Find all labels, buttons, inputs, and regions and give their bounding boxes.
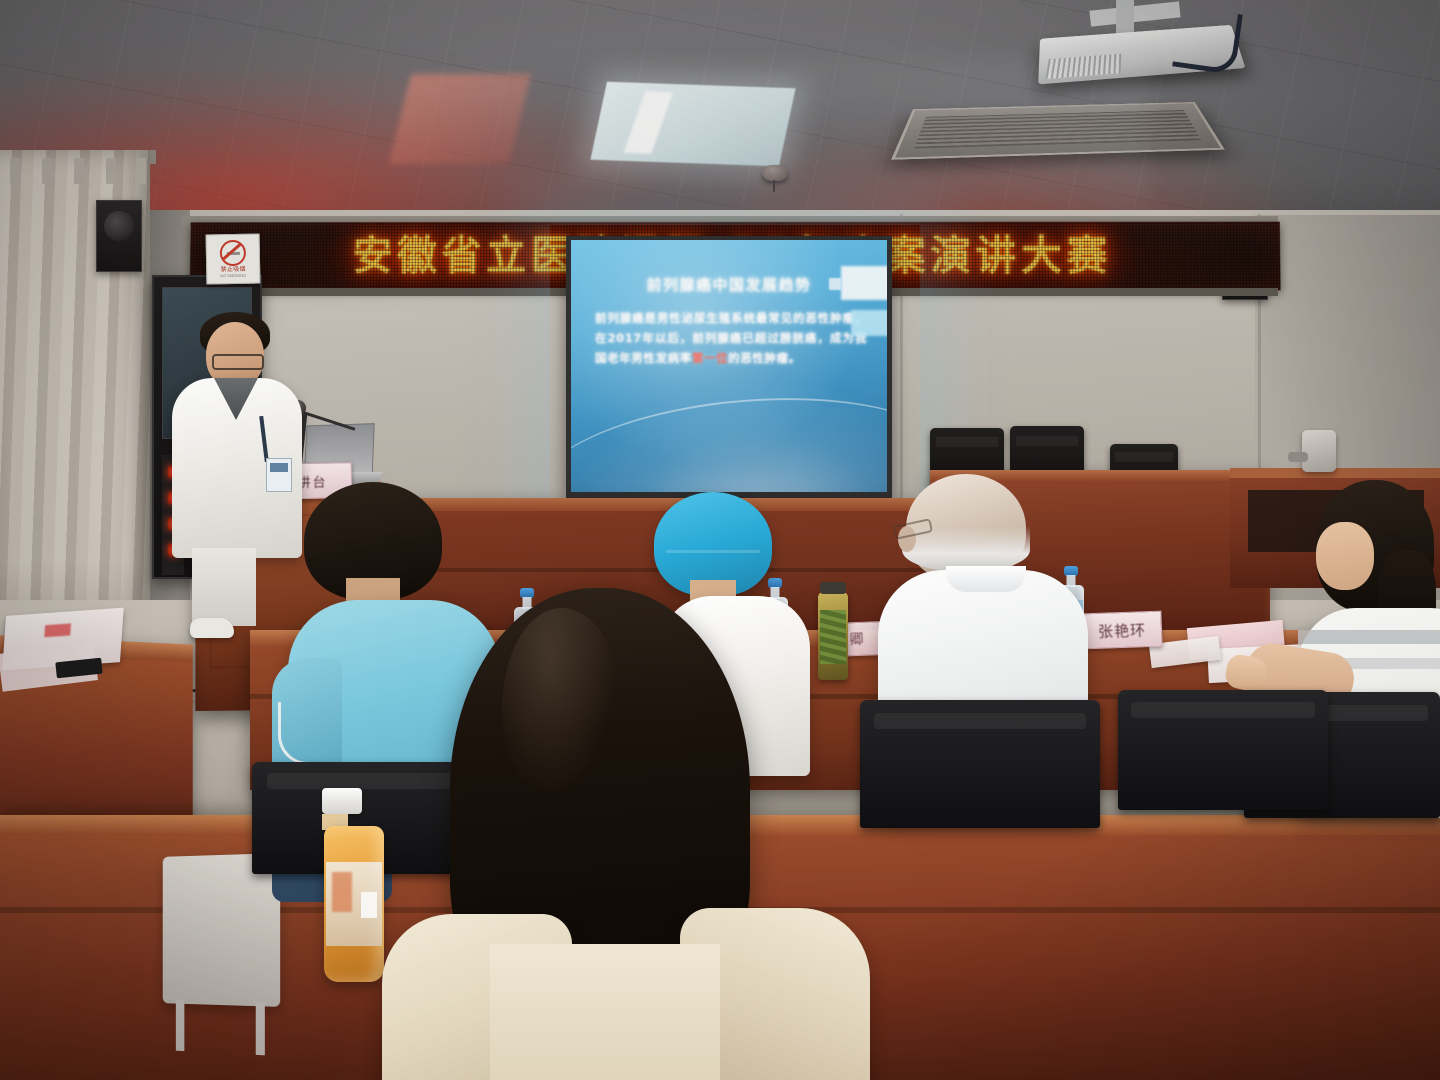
no-smoking-sign: 禁止吸烟 NO SMOKING — [206, 234, 261, 285]
curtain-hook — [136, 158, 146, 184]
judge-top-stripe — [1298, 630, 1440, 644]
presenter-shoe — [190, 618, 234, 638]
judge-face — [1316, 522, 1374, 590]
white-folding-chair — [163, 853, 280, 1007]
smoke-detector-icon — [762, 165, 788, 181]
juice-bottle-label — [326, 862, 382, 946]
slide-decor-block-mid — [851, 310, 887, 336]
foreground-woman-hair-highlight — [502, 608, 622, 808]
presenter-glasses — [212, 354, 264, 370]
conference-room-photo: 安徽省立医院涡阳 21年病案演讲大赛 禁止吸烟 NO SMOKING 前列腺癌中… — [0, 0, 1440, 1080]
earphone-cable — [278, 702, 335, 765]
slide-body-text: 前列腺癌是男性泌尿生殖系统最常见的恶性肿瘤，在2017年以后，前列腺癌已超过膀胱… — [595, 308, 867, 368]
presenter-legs — [192, 548, 256, 626]
slide-decor-block-top — [841, 266, 887, 300]
bench-seat-back-right — [1118, 690, 1328, 810]
projector-vent — [1045, 54, 1121, 79]
no-smoking-subtitle: NO SMOKING — [207, 273, 259, 279]
foreground-woman — [450, 588, 870, 1080]
curtain-hook — [106, 158, 116, 184]
ac-grill — [914, 110, 1201, 148]
slide-body-part2: 的恶性肿瘤。 — [728, 351, 801, 365]
bench-seat-back-center — [860, 700, 1100, 828]
electric-kettle — [1302, 430, 1336, 472]
kettle-handle — [1288, 452, 1308, 462]
projection-screen: 前列腺癌中国发展趋势 前列腺癌是男性泌尿生殖系统最常见的恶性肿瘤，在2017年以… — [571, 240, 887, 492]
slide-decor-square — [829, 278, 841, 290]
ceiling-light-dim — [389, 74, 531, 164]
foreground-woman-torso — [490, 944, 720, 1080]
curtain-hook — [74, 158, 84, 184]
curtain-hook — [10, 158, 20, 184]
slide-body-highlight: 第一位 — [692, 351, 728, 365]
curtain-hook — [42, 158, 52, 184]
juice-bottle — [322, 788, 386, 984]
no-smoking-icon — [220, 240, 246, 266]
juice-bottle-cap — [322, 788, 362, 814]
wall-speaker-left — [96, 200, 142, 272]
ceiling-light-panel — [590, 82, 795, 167]
elderly-collar — [946, 566, 1026, 592]
ceiling-air-conditioner — [891, 102, 1225, 160]
